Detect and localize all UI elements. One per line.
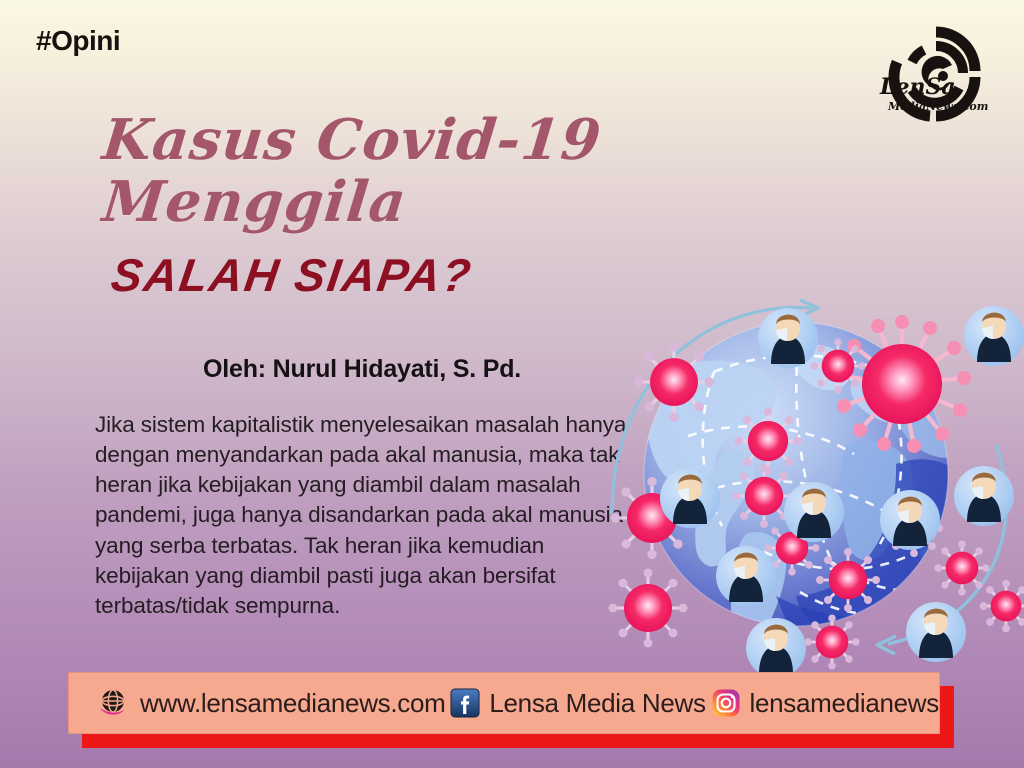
avatar bbox=[880, 490, 940, 550]
virus-particle bbox=[885, 499, 943, 557]
virus-particle bbox=[934, 540, 989, 595]
circulation-arrow-bottom bbox=[877, 444, 1006, 654]
headline-block: Kasus Covid-19 Menggila SALAH SIAPA? bbox=[100, 112, 620, 302]
virus-particle bbox=[804, 614, 859, 669]
globe-continents bbox=[645, 344, 992, 649]
virus-particle bbox=[810, 338, 865, 393]
avatar bbox=[784, 482, 844, 542]
logo-wordmark: LenSa bbox=[879, 74, 956, 100]
avatar bbox=[758, 308, 818, 368]
virus-particles bbox=[609, 315, 1024, 670]
facebook-icon bbox=[450, 688, 480, 718]
avatar bbox=[716, 546, 776, 606]
virus-particle bbox=[980, 580, 1024, 632]
masked-person-avatars bbox=[660, 306, 1024, 676]
hashtag-label: #Opini bbox=[36, 25, 120, 57]
avatar bbox=[746, 618, 806, 676]
avatar bbox=[906, 602, 966, 662]
virus-particle bbox=[734, 407, 801, 474]
globe-icon bbox=[97, 686, 131, 720]
headline-line-3: SALAH SIAPA? bbox=[108, 248, 628, 302]
avatar bbox=[660, 468, 720, 528]
poster-canvas: #Opini LenSa MediaNews.com Kasus Covid-1… bbox=[0, 0, 1024, 768]
footer-bar: www.lensamedianews.com bbox=[68, 672, 940, 734]
circulation-arrow-top bbox=[612, 300, 818, 514]
footer-instagram[interactable]: lensamedianews bbox=[711, 688, 939, 719]
headline-line-1: Kasus Covid-19 bbox=[100, 112, 626, 168]
dashed-connection-lines bbox=[688, 350, 940, 615]
author-byline: Oleh: Nurul Hidayati, S. Pd. bbox=[203, 355, 521, 384]
social-footer: www.lensamedianews.com bbox=[68, 672, 954, 748]
instagram-label: lensamedianews bbox=[750, 688, 939, 719]
virus-particle bbox=[816, 548, 880, 612]
avatar bbox=[964, 306, 1024, 366]
earth-globe bbox=[644, 322, 992, 650]
facebook-label: Lensa Media News bbox=[489, 688, 705, 719]
website-label: www.lensamedianews.com bbox=[140, 688, 446, 719]
covid-global-spread-illustration bbox=[596, 276, 1024, 676]
virus-particle bbox=[732, 464, 796, 528]
lensa-media-news-logo: LenSa MediaNews.com bbox=[874, 22, 1004, 132]
article-excerpt-text: Jika sistem kapitalistik menyelesaikan m… bbox=[95, 410, 635, 621]
virus-particle-large bbox=[833, 315, 971, 453]
virus-particle bbox=[634, 342, 714, 422]
instagram-icon bbox=[711, 688, 741, 718]
avatar bbox=[954, 466, 1014, 526]
footer-website[interactable]: www.lensamedianews.com bbox=[97, 686, 446, 720]
headline-line-2: Menggila bbox=[100, 174, 626, 230]
virus-particle bbox=[764, 520, 819, 575]
logo-tagline: MediaNews.com bbox=[887, 100, 988, 113]
article-excerpt: Jika sistem kapitalistik menyelesaikan m… bbox=[95, 410, 635, 621]
footer-facebook[interactable]: Lensa Media News bbox=[450, 688, 705, 719]
